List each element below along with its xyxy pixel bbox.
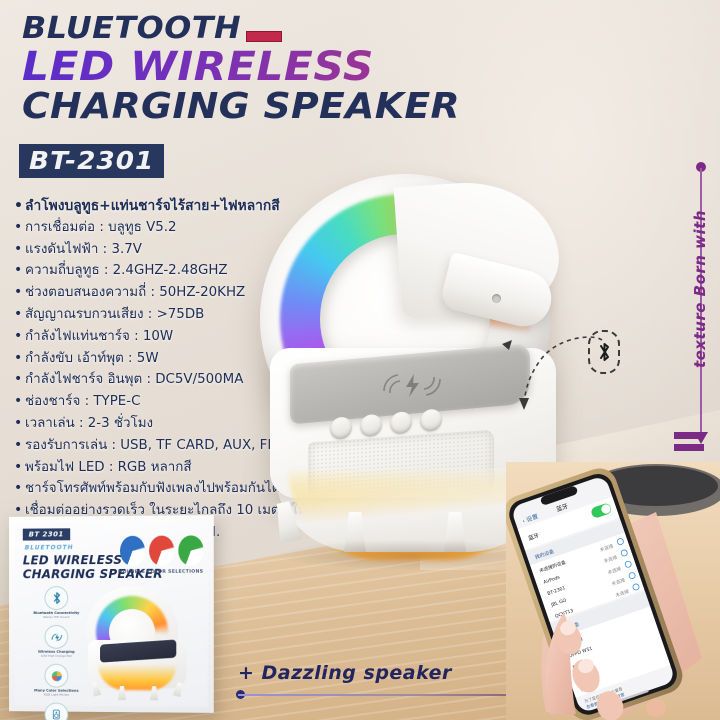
package-model-label: BT 2301 [23, 528, 70, 540]
spec-text: แรงดันไฟฟ้า : 3.7V [25, 240, 142, 261]
spec-text: พร้อมไฟ LED : RGB หลากสี [25, 458, 192, 479]
spec-text: การเชื่อมต่อ : บลูทูธ V5.2 [25, 218, 177, 239]
spec-text: สัญญาณรบกวนเสียง : >75DB [25, 305, 204, 326]
package-feature-item: HD StereoBuilt-in Driver [31, 702, 82, 720]
product-advertisement: BLUETOOTH LED WIRELESS CHARGING SPEAKER … [0, 0, 720, 720]
spec-text: ช่วงตอบสนองความถี่ : 50HZ-20KHZ [25, 283, 245, 304]
speaker-icon [44, 702, 68, 720]
spec-bullet: • [14, 457, 25, 478]
bluetooth-icon [588, 330, 620, 374]
g-logo-green [178, 535, 203, 565]
headline-line-3: CHARGING SPEAKER [22, 88, 516, 126]
spec-bullet: • [14, 369, 25, 390]
model-badge-label: BT-2301 [29, 148, 154, 173]
bluetooth-icon [44, 586, 68, 610]
spec-text: กำลังไฟชาร์จ อินพุต : DC5V/500MA [25, 370, 243, 391]
vertical-caption-text: texture Born with [691, 199, 709, 379]
package-box-image: BT 2301 BLUETOOTH LED WIRELESS CHARGING … [9, 515, 214, 713]
speaker-button[interactable] [360, 414, 382, 438]
spec-text: ช่องชาร์จ : TYPE-C [25, 392, 140, 413]
package-title-line-1: LED WIRELESS [23, 553, 122, 567]
bottom-caption: + Dazzling speaker [238, 662, 452, 684]
spec-bullet: • [14, 326, 25, 347]
speaker-button[interactable] [330, 416, 352, 440]
headline-line-2: LED WIRELESS [22, 47, 520, 87]
package-g-logos [120, 535, 206, 570]
wireless-charging-icon [44, 625, 68, 649]
spec-bullet: • [14, 282, 25, 303]
spec-bullet: • [14, 413, 25, 434]
spec-text: ลำโพงบลูทูธ+แท่นชาร์จไร้สาย+ไฟหลากสี [25, 196, 280, 217]
phone-in-hand-photo: ‹ 设置 蓝牙 蓝牙 我的设备 未连接的设备未连接 AirPods未连接 BT-… [506, 462, 720, 720]
product-shadow [278, 540, 540, 570]
speaker-button[interactable] [390, 411, 412, 435]
spec-bullet: • [14, 239, 25, 260]
accent-bar [674, 432, 704, 439]
spec-bullet: • [14, 217, 25, 238]
color-wheel-icon [44, 664, 68, 688]
spec-bullet: • [14, 478, 25, 499]
spec-text: กำลังไฟแท่นชาร์จ : 10W [25, 327, 173, 348]
speaker-button[interactable] [420, 408, 442, 432]
package-bluetooth-label: BLUETOOTH [25, 544, 74, 551]
spec-bullet: • [14, 391, 25, 412]
red-dash-accent [246, 31, 282, 42]
model-badge: BT-2301 [19, 144, 164, 178]
bottom-caption-text: + Dazzling speaker [238, 662, 452, 684]
g-logo-red [149, 536, 174, 566]
bottom-caption-line [238, 694, 538, 696]
wireless-charging-icon [376, 368, 448, 402]
package-color-caption: MULTIPLE COLOR SELECTIONS [118, 570, 203, 575]
package-product-photo [74, 582, 200, 701]
spec-bullet: • [14, 260, 25, 281]
spec-text: รองรับการเล่น : USB, TF CARD, AUX, FM [25, 436, 279, 457]
spec-text: ความถี่บลูทูธ : 2.4GHZ-2.48GHZ [25, 261, 228, 282]
speaker-tail-hole [492, 294, 501, 303]
accent-bar [674, 444, 704, 451]
spec-bullet: • [14, 196, 25, 217]
spec-text: เวลาเล่น : 2-3 ชั่วโมง [25, 414, 153, 435]
spec-bullet: • [14, 435, 25, 456]
spec-text: กำลังขับ เอ้าท์พุต : 5W [25, 349, 159, 370]
spec-bullet: • [14, 348, 25, 369]
vertical-caption: texture Born with [672, 160, 706, 460]
spec-bullet: • [14, 304, 25, 325]
g-logo-blue [120, 536, 145, 566]
